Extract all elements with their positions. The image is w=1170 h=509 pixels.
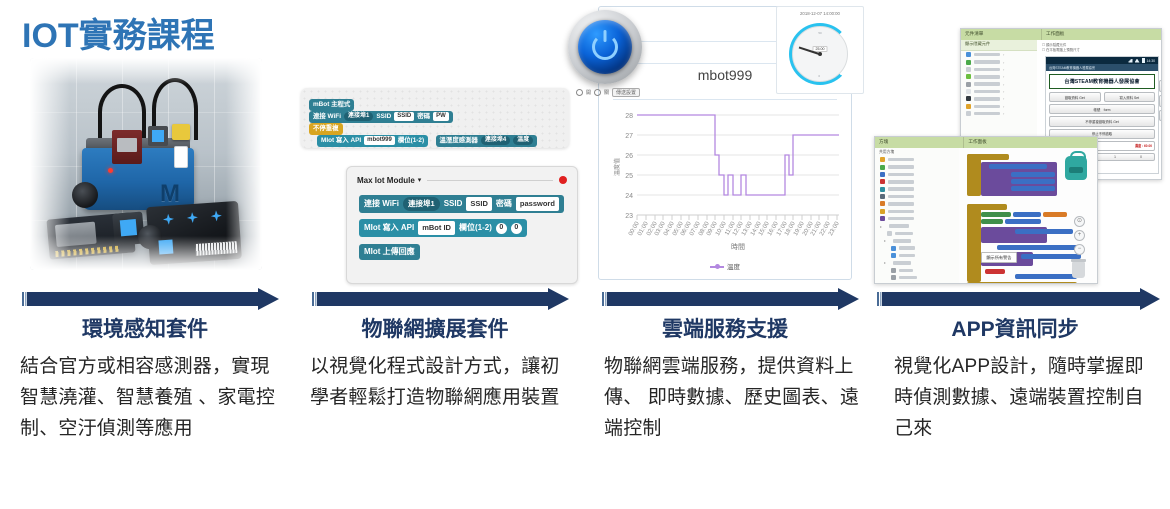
palette-item-dict[interactable] [875,193,959,200]
block-set-1[interactable] [989,164,1047,169]
app-button-row-2[interactable]: 帳號 form [1049,104,1155,114]
max-block-wifi[interactable]: 連接 WiFi 連接埠1 SSID SSID 密碼 password [359,193,564,213]
photo-mbot-sensors [0,40,290,288]
list-item[interactable]: › [961,110,1037,117]
gauge-hub [818,52,822,56]
svg-text:27: 27 [625,133,633,140]
blocks-right-header: 工作面板 [964,137,1097,148]
battery-icon [1142,58,1145,63]
block-math-2[interactable] [1005,219,1041,224]
menu-item-switch2[interactable]: 設備控制開關2開啟 [1159,110,1162,122]
gauge-card: 2018-12-07 14:00:00 50 0 25.00 [776,6,864,94]
block-set-2[interactable] [1011,172,1055,177]
designer-right-header: 工作面板 [1042,29,1161,40]
block-join-4[interactable] [1015,274,1077,279]
power-button-inner [578,20,632,74]
caption-title-3: 雲端服務支援 [580,313,870,343]
menu-item-switch1[interactable]: 設備控制開關1開啟 [1159,80,1162,92]
workspace-canvas[interactable]: ⊙ + − 顯示所有警告 [959,148,1097,283]
zoom-controls[interactable]: ⊙ + − [1074,216,1085,255]
designer-checkbox-1[interactable]: ☐ 顯示隱藏元件 [1037,40,1161,47]
block-math-1[interactable] [1013,212,1041,217]
blocks-left-header: 方塊 [875,137,964,148]
svg-text:時間: 時間 [731,243,745,251]
sensor-tile [148,126,168,146]
max-iot-module-editor[interactable]: Max Iot Module ▾ 連接 WiFi 連接埠1 SSID SSID … [346,166,578,284]
radio-off-icon[interactable] [594,89,601,96]
blocks-left-sub: 共用方塊 [875,148,959,156]
blocks-workspace[interactable]: ⊙ + − 顯示所有警告 [959,148,1097,283]
account-field[interactable]: 帳號 form [1049,104,1155,114]
power-on-label: 開 [586,89,591,96]
block-set-3[interactable] [1011,179,1055,184]
svg-text:23: 23 [625,213,633,220]
block-set-4[interactable] [1011,186,1055,191]
max-block-write[interactable]: MIot 寫入 API mBot ID 欄位(1-2) 0 0 [359,217,527,237]
designer-checkbox-2[interactable]: ☐ 在平板電腦上預覽尺寸 [1037,47,1161,52]
caption-title-2: 物聯網擴展套件 [290,313,580,343]
phone-status-bar: 14:30 [1046,57,1158,64]
list-item[interactable]: › [961,73,1037,80]
power-icon [592,34,618,60]
app-button-row-3[interactable]: 不停重複讀取資料 Get [1049,116,1155,126]
max-api-input[interactable]: mBot ID [418,221,455,234]
palette-item-procedure[interactable] [875,215,959,222]
radio-on-icon[interactable] [576,89,583,96]
palette-item-control[interactable] [875,156,959,163]
menu-item-connection[interactable]: 連線設定開啟 [1159,95,1162,107]
max-upload-label: MIot 上傳回應 [359,244,420,260]
center-icon[interactable]: ⊙ [1074,216,1085,227]
list-item[interactable]: › [961,66,1037,73]
zoom-in-icon[interactable]: + [1074,230,1085,241]
cloud-dashboard: mbot999 28 27 [580,0,870,288]
block-color-1[interactable] [1043,212,1067,217]
palette-item-math[interactable] [875,171,959,178]
get-data-button[interactable]: 讀取資料 Get [1049,92,1101,102]
max-ssid-label: SSID [444,198,463,210]
max-field-label: 欄位(1-2) [459,222,492,234]
yellow-module [172,124,190,140]
column-app-sync: 元件清單 工作面板 顯示隱藏元件 › › › › › › › › › ☐ 顯示隱 [870,0,1160,509]
caption-body-1: 結合官方或相容感測器，實現智慧澆灌、智慧養殖 、家電控制、空汙偵測等應用 [20,352,276,445]
dht-sensor [174,146,188,168]
chart-legend: 溫度 [607,261,843,271]
designer-left-header: 元件清單 [961,29,1042,40]
status-time: 14:30 [1147,59,1156,63]
record-indicator-icon[interactable] [559,176,567,184]
snowflake-icons [163,210,224,226]
ssid-input[interactable]: SSID [394,112,414,121]
ssid-label: SSID [376,112,391,122]
app-inventor-blocks-editor[interactable]: 方塊 工作面板 共用方塊 ▸ ▸ ▸ [874,136,1098,284]
photo-fade-right [226,58,262,270]
gauge-face: 50 0 25.00 [792,26,848,82]
max-editor-title: Max Iot Module [357,176,415,185]
password-label: 密碼 [417,112,430,122]
block-group-event-1[interactable] [967,154,981,196]
backpack-icon[interactable] [1065,156,1087,180]
zoom-out-icon[interactable]: − [1074,244,1085,255]
arrow-4 [870,288,1160,312]
max-value-1[interactable]: 0 [496,223,507,234]
mbot-wheel [72,182,98,208]
app-menu-column[interactable]: 設備控制開關1開啟 連線設定開啟 設備控制開關2開啟 [1159,80,1162,121]
max-ssid-input[interactable]: SSID [466,197,492,210]
block-text-1[interactable] [985,269,1005,274]
field-label: 欄位(1-2) [398,136,424,146]
phone-titlebar: 台灣STEAM教育機器人發展協會 [1046,64,1158,71]
designer-left-sub: 顯示隱藏元件 [961,40,1037,51]
power-button[interactable] [568,10,642,84]
blocks-palette[interactable]: 共用方塊 ▸ ▸ ▸ [875,148,960,283]
arrow-1 [0,288,290,312]
list-item[interactable]: › [961,88,1037,95]
svg-text:23:00: 23:00 [828,220,841,237]
arrow-2 [290,288,580,312]
product-photo [30,58,262,270]
chevron-down-icon[interactable]: ▾ [415,176,422,184]
max-write-prefix: MIot 寫入 API [364,222,414,234]
max-block-upload[interactable]: MIot 上傳回應 [359,241,420,260]
gauge-tick-min: 0 [818,74,820,78]
list-item[interactable]: › [961,103,1037,110]
block-join-1[interactable] [1015,229,1073,234]
set-data-button[interactable]: 寫入資料 Set [1104,92,1156,102]
max-wifi-port[interactable]: 連接埠1 [403,197,440,210]
list-item[interactable]: › [961,81,1037,88]
caption-title-4: APP資訊同步 [870,313,1160,343]
temperature-chart: 28 27 26 25 24 23 溫度值 [607,107,843,273]
loop-get-button[interactable]: 不停重複讀取資料 Get [1049,116,1155,126]
column-iot-expansion: mBot 主程式 連接 WiFi 連接埠1 SSID SSID 密碼 PW 不停… [290,0,580,509]
power-off-label: 關 [604,89,609,96]
max-editor-header[interactable]: Max Iot Module ▾ [357,174,567,186]
legend-label: 溫度 [727,264,740,271]
block-join-2[interactable] [997,245,1081,250]
power-controls[interactable]: 開 關 傳送設置 [576,88,640,97]
app-inventor: 元件清單 工作面板 顯示隱藏元件 › › › › › › › › › ☐ 顯示隱 [870,0,1160,288]
status-led [108,168,113,173]
password-input[interactable]: PW [433,112,449,121]
num-3: 0 [1140,155,1142,159]
tree-label-1[interactable] [875,267,959,274]
gauge-timestamp: 2018-12-07 14:00:00 [777,11,863,16]
block-write[interactable]: MIot 寫入 API mbot999 欄位(1-2) 溫溼度感測器 連接埠4 … [317,129,569,148]
trash-icon[interactable] [1072,262,1085,278]
write-prefix: MIot 寫入 API [321,136,361,146]
block-event-hat-1[interactable] [967,154,1009,160]
palette-item-variable[interactable] [875,208,959,215]
svg-text:28: 28 [625,113,633,120]
svg-text:26: 26 [625,153,633,160]
block-logic-1[interactable] [981,212,1011,217]
caption-body-2: 以視覺化程式設計方式，讓初學者輕鬆打造物聯網應用裝置 [310,352,566,414]
app-button-row-1[interactable]: 讀取資料 Get 寫入資料 Set [1049,92,1155,102]
block-editors: mBot 主程式 連接 WiFi 連接埠1 SSID SSID 密碼 PW 不停… [290,40,580,288]
max-password-label: 密碼 [496,198,512,210]
palette-item-list[interactable] [875,186,959,193]
caption-title-1: 環境感知套件 [0,313,290,343]
photo-fade-left [30,58,70,270]
column-cloud-service: mbot999 28 27 [580,0,870,509]
tree-screen1[interactable]: ▸ [875,222,959,229]
sensor1-name: 溫溼度感測器 [440,136,478,146]
api-input[interactable]: mbot999 [364,136,395,145]
block-footer[interactable] [967,282,1077,283]
tree-hlayout-2[interactable]: ▸ [875,259,959,266]
tree-button-a[interactable] [875,245,959,252]
gauge-dial: 50 0 25.00 [789,23,851,85]
palette-item-logic[interactable] [875,163,959,170]
mbot-robot [76,120,202,216]
tree-result-label[interactable] [875,274,959,281]
wifi-module [112,130,142,164]
list-item[interactable]: › [961,95,1037,102]
max-password-input[interactable]: password [516,197,559,210]
block-group-event-2[interactable] [967,204,981,282]
caption-body-3: 物聯網雲端服務，提供資料上傳、 即時數據、歷史圖表、遠端控制 [604,352,860,445]
sensor1-port[interactable]: 連接埠4 [481,136,510,145]
svg-text:24: 24 [625,193,633,200]
svg-text:溫度值: 溫度值 [613,158,621,176]
num-2: 1 [1114,155,1116,159]
divider-3 [613,99,837,100]
palette-item-color[interactable] [875,200,959,207]
list-item[interactable]: › [961,58,1037,65]
show-warnings-button[interactable]: 顯示所有警告 [981,252,1016,263]
wifi-port[interactable]: 連接埠1 [344,112,373,121]
caption-body-4: 視覺化APP設計，隨時掌握即時偵測數據、遠端裝置控制自己來 [894,352,1150,445]
app-title: 台灣STEAM教育機器人發展協會 [1049,74,1155,89]
legend-swatch-icon [710,266,724,268]
column-environment-sensing: 環境感知套件 結合官方或相容感測器，實現智慧澆灌、智慧養殖 、家電控制、空汙偵測… [0,0,290,509]
svg-text:25: 25 [625,173,633,180]
header-divider [427,180,553,181]
palette-item-text[interactable] [875,178,959,185]
max-value-2[interactable]: 0 [511,223,522,234]
signal-icon [1128,59,1133,63]
gauge-tick-max: 50 [818,31,821,35]
wifi-icon [1135,59,1140,63]
arrow-3 [580,288,870,312]
humidity-reading: 濕度 : 60.00 [1135,143,1152,148]
list-item[interactable]: › [961,51,1037,58]
tree-titlebar[interactable] [875,230,959,237]
tree-hlayout-1[interactable]: ▸ [875,237,959,244]
block-logic-2[interactable] [981,219,1003,224]
component-tree[interactable]: › › › › › › › › › [961,51,1037,117]
mbot-block-editor[interactable]: mBot 主程式 連接 WiFi 連接埠1 SSID SSID 密碼 PW 不停… [301,88,569,148]
sensor1-kind[interactable]: 溫度 [513,136,533,145]
send-setting-button[interactable]: 傳送設置 [612,88,640,97]
block-event-hat-2[interactable] [967,204,1007,210]
max-wifi-prefix: 連接 WiFi [364,198,399,210]
tree-button-b[interactable] [875,252,959,259]
